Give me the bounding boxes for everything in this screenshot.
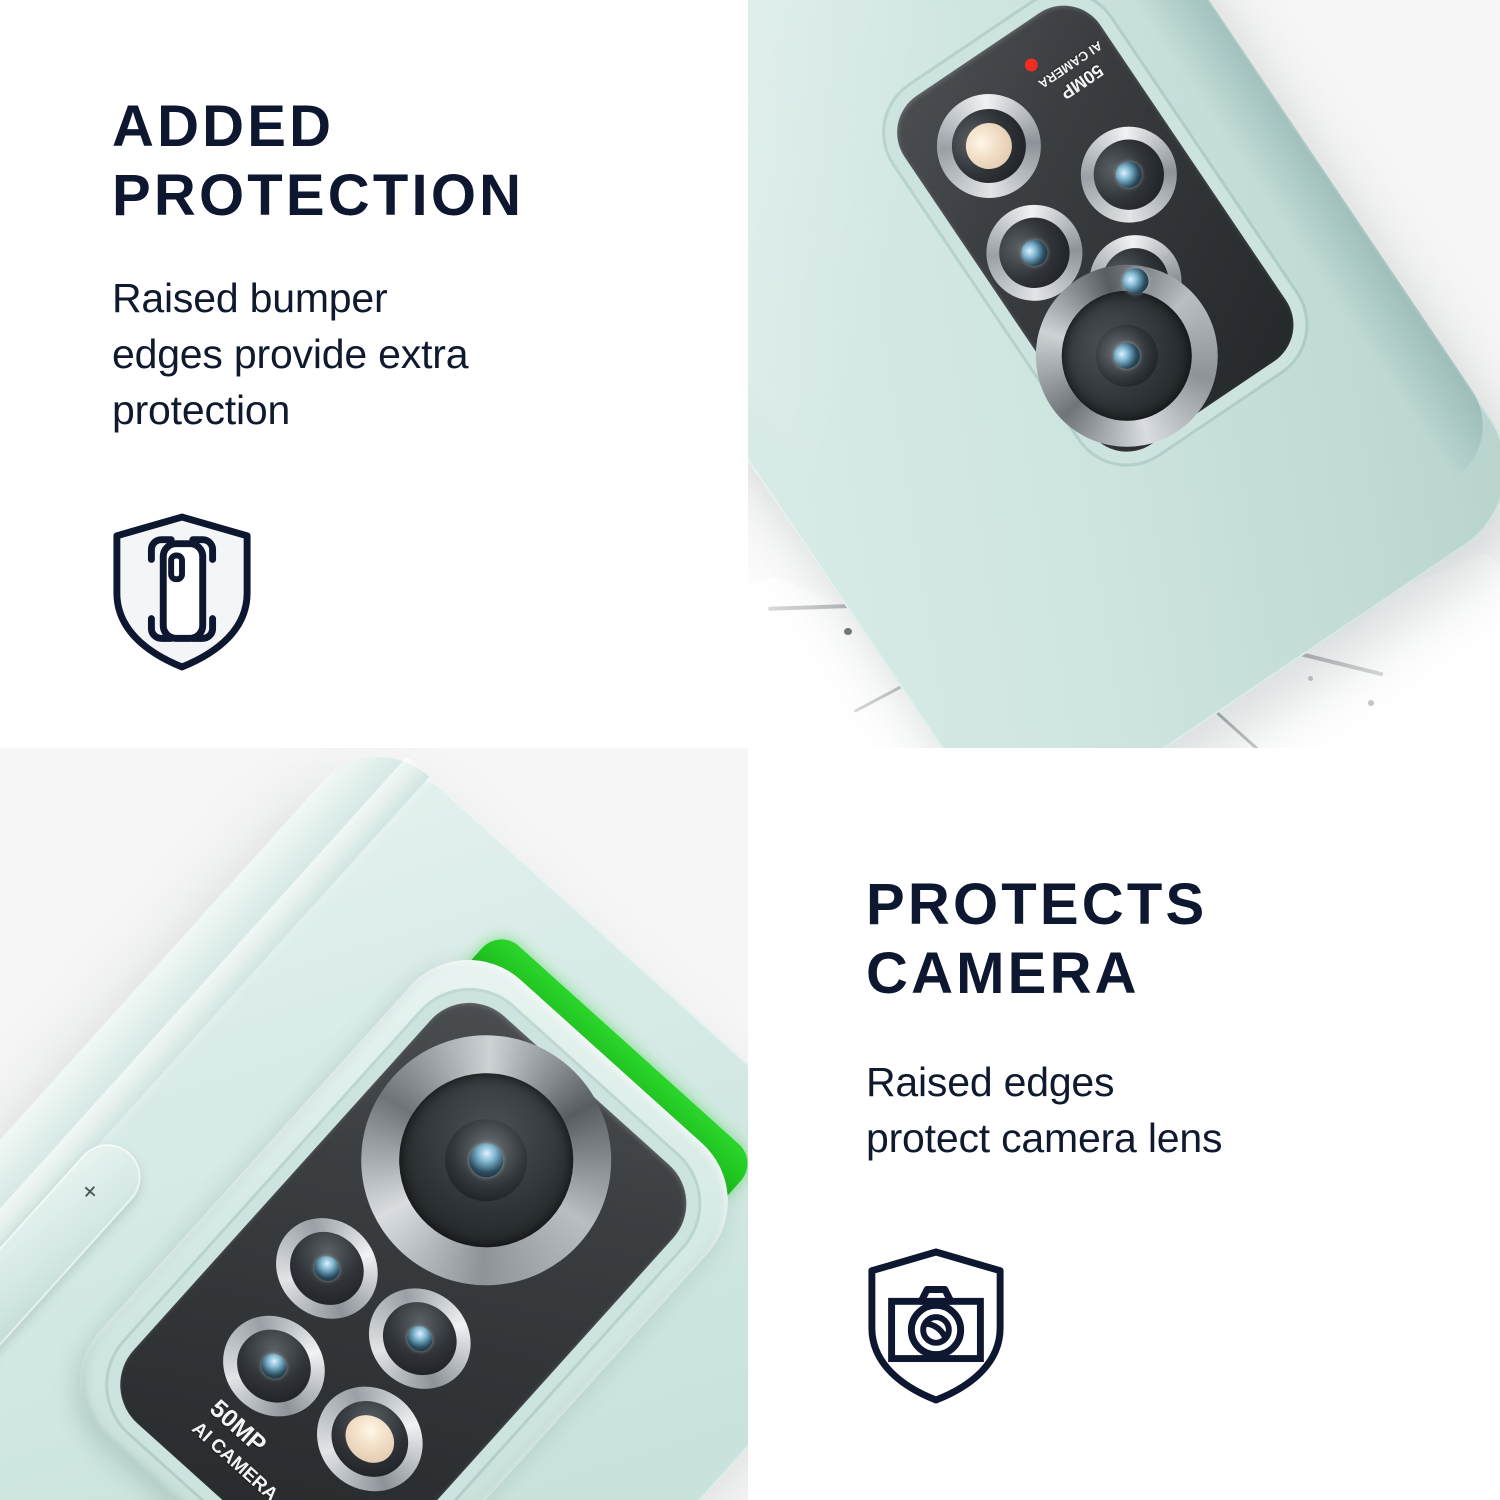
infographic-grid: ADDED PROTECTION Raised bumper edges pro…: [0, 0, 1500, 1500]
main-camera-mid: [363, 1037, 609, 1283]
debris-particle: [844, 628, 852, 635]
main-camera-inner: [428, 1102, 544, 1218]
panel-impact-photo: 50MP AI CAMERA: [748, 0, 1500, 748]
camera-closeup-scene: + –: [0, 748, 748, 1500]
camera-indicator-dot: [1022, 56, 1040, 74]
volume-up-mark: +: [76, 1177, 105, 1206]
panel-protects-camera: PROTECTS CAMERA Raised edges protect cam…: [748, 748, 1500, 1500]
added-protection-textblock: ADDED PROTECTION Raised bumper edges pro…: [112, 92, 692, 439]
protects-camera-headline: PROTECTS CAMERA: [866, 870, 1456, 1008]
protects-camera-textblock: PROTECTS CAMERA Raised edges protect cam…: [866, 870, 1456, 1166]
camera-lens-ring: [917, 74, 1061, 218]
shield-phone-icon: [108, 512, 256, 672]
panel-camera-photo: + –: [0, 748, 748, 1500]
added-protection-headline: ADDED PROTECTION: [112, 92, 692, 230]
camera-flash: [957, 114, 1021, 178]
camera-lens-glass: [1111, 157, 1147, 193]
added-protection-subcopy: Raised bumper edges provide extra protec…: [112, 270, 692, 438]
panel-added-protection: ADDED PROTECTION Raised bumper edges pro…: [0, 0, 748, 748]
phone-with-case: + –: [0, 748, 748, 1500]
camera-lens-glass: [402, 1321, 437, 1356]
dust-particle: [1308, 676, 1313, 681]
main-camera-mid: [1037, 266, 1217, 446]
camera-lens-glass: [1016, 235, 1052, 271]
camera-flash: [336, 1405, 404, 1472]
camera-lens-glass: [309, 1251, 344, 1286]
camera-spec-label: 50MP AI CAMERA: [1033, 36, 1119, 111]
shield-camera-icon: [862, 1246, 1010, 1406]
main-camera-glass: [462, 1136, 510, 1184]
protects-camera-subcopy: Raised edges protect camera lens: [866, 1054, 1456, 1166]
main-camera-glass: [1109, 338, 1145, 374]
dust-particle: [1368, 700, 1374, 706]
camera-lens-glass: [256, 1348, 291, 1383]
impact-scene: 50MP AI CAMERA: [748, 0, 1500, 748]
main-camera-inner: [1084, 313, 1170, 399]
